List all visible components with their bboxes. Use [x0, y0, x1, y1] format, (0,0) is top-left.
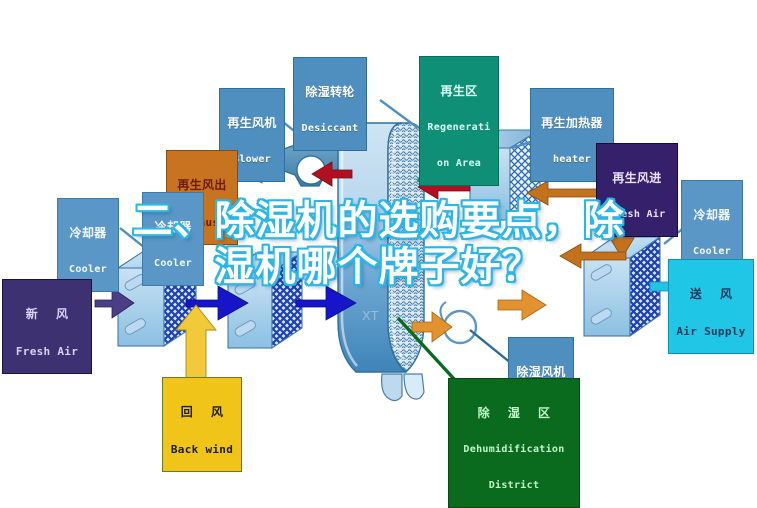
- callout-regen-area-en1: Regenerati: [422, 123, 496, 134]
- callout-back-wind-en: Back wind: [165, 444, 239, 456]
- callout-air-supply-en: Air Supply: [671, 326, 751, 338]
- callout-regen-blower-cn: 再生风机: [222, 117, 282, 130]
- callout-dehumid-district[interactable]: 除 湿 区 Dehumidification District: [448, 378, 580, 508]
- callout-cooler-right-en: Cooler: [684, 247, 740, 258]
- callout-dehumid-district-cn: 除 湿 区: [451, 407, 577, 420]
- diagram-canvas: XT: [0, 0, 757, 488]
- callout-cooler-left-2-en: Cooler: [145, 259, 201, 270]
- callout-air-supply-cn: 送 风: [671, 288, 751, 301]
- callout-back-wind[interactable]: 回 风 Back wind: [162, 377, 242, 472]
- callout-air-supply[interactable]: 送 风 Air Supply: [668, 259, 754, 354]
- callout-cooler-right-cn: 冷却器: [684, 209, 740, 222]
- callout-back-wind-cn: 回 风: [165, 406, 239, 419]
- callout-regen-area-en2: on Area: [422, 159, 496, 170]
- callout-fresh-air-in-en: Fresh Air: [5, 346, 89, 358]
- callout-desiccant-rotor-en: Desiccant: [296, 124, 364, 135]
- callout-dehumid-district-en1: Dehumidification: [451, 445, 577, 456]
- callout-fresh-air-in[interactable]: 新 风 Fresh Air: [2, 279, 92, 374]
- callout-dehumid-district-en2: District: [451, 481, 577, 492]
- callout-regen-area[interactable]: 再生区 Regenerati on Area: [419, 56, 499, 186]
- callout-regen-fresh-air[interactable]: 再生风进 Fresh Air: [596, 143, 678, 237]
- callout-regen-fresh-air-cn: 再生风进: [599, 172, 675, 185]
- arrow-blower-to-supply: [498, 290, 546, 320]
- callout-desiccant-rotor[interactable]: 除湿转轮 Desiccant: [293, 57, 367, 151]
- callout-regen-area-cn: 再生区: [422, 85, 496, 98]
- callout-cooler-left-1-cn: 冷却器: [60, 227, 116, 240]
- watermark-text: XT: [362, 308, 379, 323]
- callout-regen-fresh-air-en: Fresh Air: [599, 210, 675, 221]
- callout-cooler-left-1-en: Cooler: [60, 265, 116, 276]
- callout-cooler-left-2[interactable]: 冷却器 Cooler: [142, 192, 204, 286]
- callout-cooler-left-2-cn: 冷却器: [145, 221, 201, 234]
- callout-fresh-air-in-cn: 新 风: [5, 308, 89, 321]
- callout-desiccant-rotor-cn: 除湿转轮: [296, 86, 364, 99]
- callout-exhaust-cn: 再生风出: [169, 179, 235, 192]
- callout-regen-heater-cn: 再生加热器: [533, 117, 611, 130]
- desiccant-rotor-graphic: [338, 123, 424, 401]
- callout-cooler-left-1[interactable]: 冷却器 Cooler: [57, 198, 119, 292]
- callout-dehumid-blower-cn: 除湿风机: [511, 366, 571, 379]
